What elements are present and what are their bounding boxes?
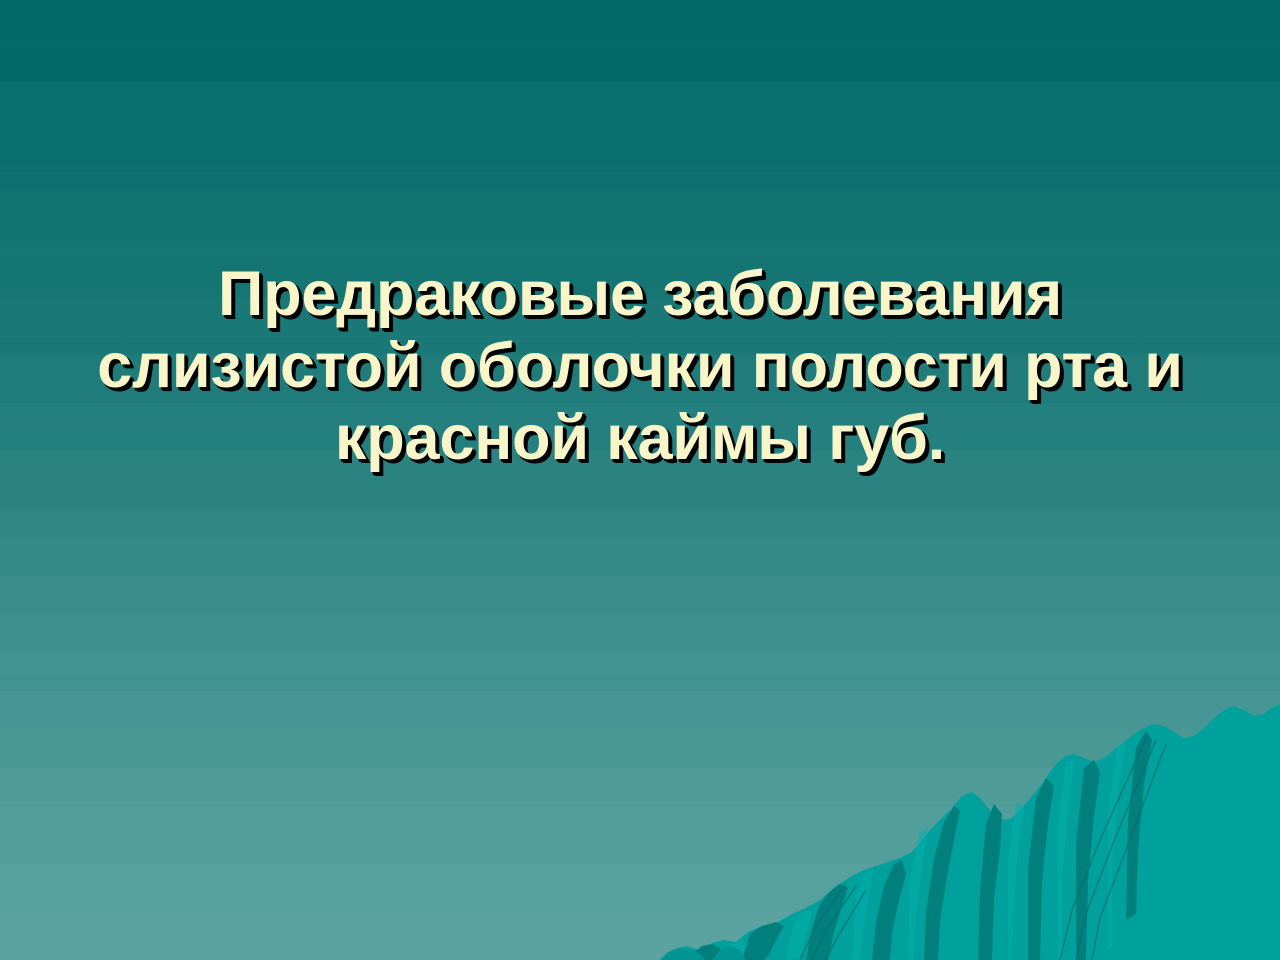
slide-background-gradient [0, 0, 1280, 960]
title-line-1: Предраковые заболевания [60, 258, 1220, 330]
title-line-3: красной каймы губ. [60, 402, 1220, 474]
presentation-slide: Предраковые заболевания слизистой оболоч… [0, 0, 1280, 960]
title-line-2: слизистой оболочки полости рта и [60, 330, 1220, 402]
slide-title: Предраковые заболевания слизистой оболоч… [60, 258, 1220, 474]
